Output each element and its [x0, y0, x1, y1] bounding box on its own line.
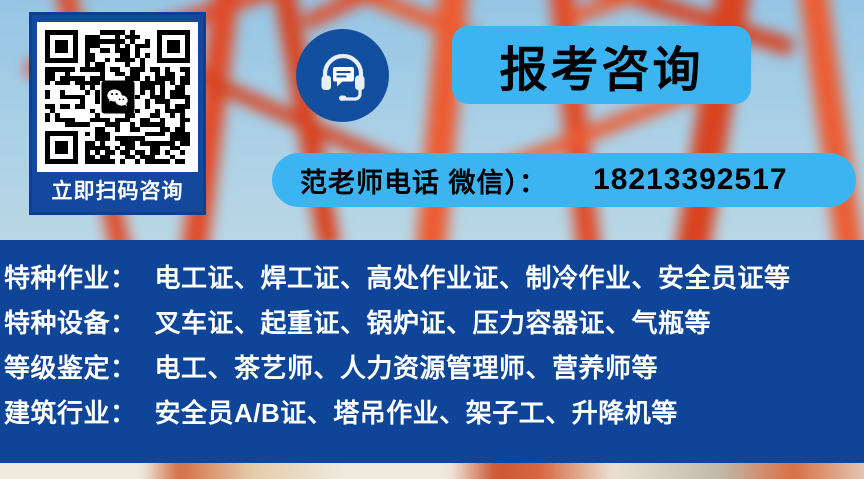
- category-value: 电工证、焊工证、高处作业证、制冷作业、安全员证等: [155, 258, 791, 295]
- category-row-special-operations: 特种作业： 电工证、焊工证、高处作业证、制冷作业、安全员证等: [0, 258, 864, 303]
- bottom-photo-blur: [0, 463, 864, 479]
- qr-caption: 立即扫码咨询: [52, 172, 184, 212]
- category-label: 建筑行业：: [4, 393, 137, 430]
- category-row-grade-assessment: 等级鉴定： 电工、茶艺师、人力资源管理师、营养师等: [0, 348, 864, 393]
- consultation-title-text: 报考咨询: [499, 30, 703, 100]
- qr-finder-top-right: [157, 30, 190, 63]
- qr-code-image[interactable]: [37, 22, 198, 172]
- category-value: 叉车证、起重证、锅炉证、压力容器证、气瓶等: [155, 303, 712, 340]
- qr-finder-bottom-left: [45, 131, 78, 164]
- category-label: 特种作业：: [4, 258, 137, 295]
- qr-code-card[interactable]: 立即扫码咨询: [29, 12, 206, 215]
- category-value: 安全员A/B证、塔吊作业、架子工、升降机等: [155, 393, 678, 430]
- contact-label: 范老师电话 微信）：: [300, 161, 547, 200]
- qr-finder-top-left: [45, 30, 78, 63]
- category-row-construction-industry: 建筑行业： 安全员A/B证、塔吊作业、架子工、升降机等: [0, 393, 864, 438]
- contact-phone-number[interactable]: 18213392517: [593, 163, 788, 197]
- wechat-icon: [101, 81, 134, 114]
- category-row-special-equipment: 特种设备： 叉车证、起重证、锅炉证、压力容器证、气瓶等: [0, 303, 864, 348]
- category-value: 电工、茶艺师、人力资源管理师、营养师等: [155, 348, 659, 385]
- consultation-title-badge: 报考咨询: [452, 26, 751, 104]
- bottom-photo-strip: [0, 463, 864, 479]
- certification-categories-panel: 特种作业： 电工证、焊工证、高处作业证、制冷作业、安全员证等 特种设备： 叉车证…: [0, 240, 864, 463]
- category-label: 特种设备：: [4, 303, 137, 340]
- category-label: 等级鉴定：: [4, 348, 137, 385]
- contact-phone-badge[interactable]: 范老师电话 微信）： 18213392517: [272, 153, 856, 207]
- headset-support-icon: [296, 29, 389, 122]
- advertisement-poster: 立即扫码咨询 报考咨询 范老师电话 微信）： 18213392517 特种作业：…: [0, 0, 864, 479]
